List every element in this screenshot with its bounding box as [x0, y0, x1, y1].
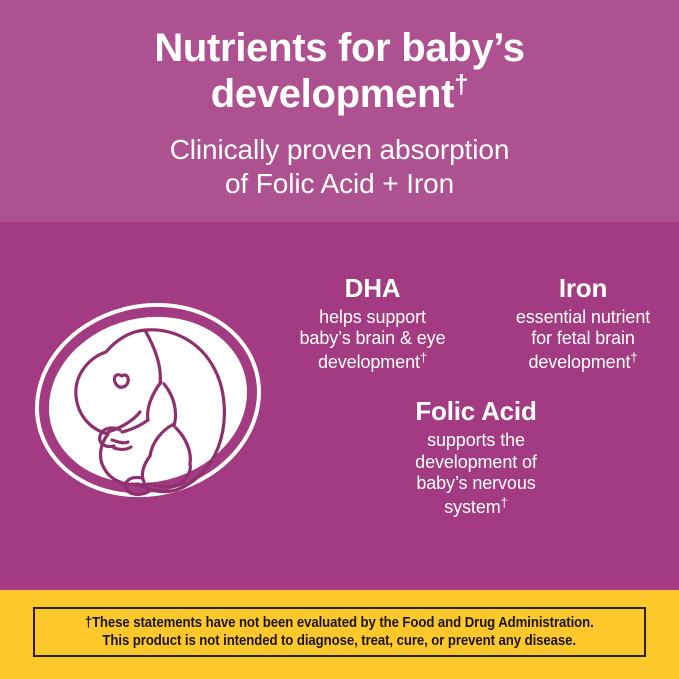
nutrient-dha-desc-line-2: baby’s brain & eye [300, 328, 446, 348]
nutrient-dha-description: helps support baby’s brain & eye develop… [280, 307, 465, 374]
header-band: Nutrients for baby’s development† Clinic… [0, 0, 679, 222]
disclaimer-text: †These statements have not been evaluate… [85, 614, 594, 651]
headline-dagger-symbol: † [454, 69, 468, 99]
nutrient-folic-acid-desc-line-4: system [444, 497, 500, 517]
nutrient-folic-acid-desc-line-1: supports the [427, 430, 525, 450]
nutrient-iron-dagger-symbol: † [630, 350, 637, 365]
headline-line-2: development [211, 72, 454, 116]
nutrients-infographic: Nutrients for baby’s development† Clinic… [0, 0, 679, 679]
page-title: Nutrients for baby’s development† [60, 26, 620, 117]
nutrient-iron-description: essential nutrient for fetal brain devel… [488, 307, 678, 374]
nutrient-iron-desc-line-3: development [528, 352, 630, 372]
nutrient-folic-acid: Folic Acid supports the development of b… [361, 397, 591, 518]
headline-line-1: Nutrients for baby’s [154, 26, 524, 70]
nutrient-dha-desc-line-3: development [318, 352, 420, 372]
disclaimer-line-2: This product is not intended to diagnose… [85, 632, 594, 650]
nutrient-folic-acid-desc-line-3: baby’s nervous [416, 473, 535, 493]
nutrient-folic-acid-title: Folic Acid [361, 397, 591, 426]
nutrient-iron-title: Iron [488, 274, 678, 303]
disclaimer-box: †These statements have not been evaluate… [33, 607, 646, 657]
disclaimer-line-1: †These statements have not been evaluate… [85, 614, 594, 632]
nutrient-folic-acid-desc-line-2: development of [415, 452, 537, 472]
nutrient-dha-title: DHA [280, 274, 465, 303]
nutrient-dha-dagger-symbol: † [420, 350, 427, 365]
womb-sac [31, 296, 265, 504]
subhead-line-2: of Folic Acid + Iron [225, 168, 454, 199]
nutrient-folic-acid-dagger-symbol: † [501, 495, 508, 510]
nutrient-row-top: DHA helps support baby’s brain & eye dev… [276, 274, 676, 373]
nutrient-iron-desc-line-1: essential nutrient [516, 307, 650, 327]
nutrient-iron-desc-line-2: for fetal brain [531, 328, 635, 348]
footer-band: †These statements have not been evaluate… [0, 590, 679, 679]
nutrient-folic-acid-description: supports the development of baby’s nervo… [361, 430, 591, 518]
nutrient-dha-desc-line-1: helps support [319, 307, 426, 327]
nutrient-list: DHA helps support baby’s brain & eye dev… [276, 274, 676, 544]
nutrient-dha: DHA helps support baby’s brain & eye dev… [280, 274, 465, 373]
fetus-illustration [28, 272, 268, 528]
fetus-in-womb-icon [28, 272, 268, 528]
page-subtitle: Clinically proven absorption of Folic Ac… [40, 133, 640, 201]
subhead-line-1: Clinically proven absorption [170, 134, 510, 165]
nutrient-iron: Iron essential nutrient for fetal brain … [488, 274, 678, 373]
